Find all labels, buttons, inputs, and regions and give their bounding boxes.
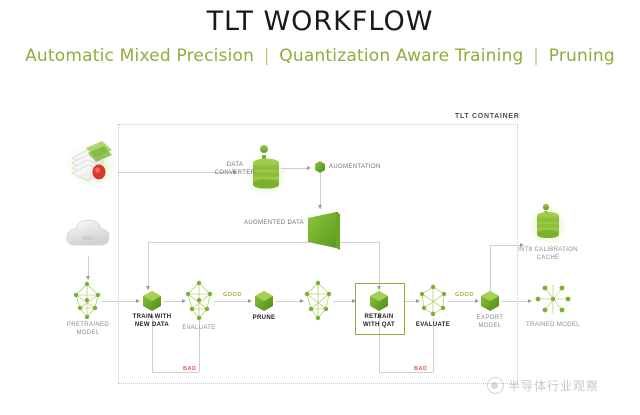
edge-augmentation-to-augdata	[320, 173, 321, 209]
bad-flag-2: BAD	[414, 366, 427, 372]
cube-icon-export	[481, 291, 499, 311]
edge-evaluate1-to-prune	[214, 301, 250, 302]
data-converter-label: DATA CONVERTER	[211, 162, 259, 177]
arrow-export-to-trained	[528, 299, 532, 303]
data-panel-icon	[308, 212, 340, 250]
image-stack-icon	[66, 141, 118, 188]
edge-export-to-cache-h	[490, 245, 522, 246]
edge-export-to-cache-v	[490, 245, 491, 291]
edge-evaluate2-to-export	[448, 301, 477, 302]
edge-augdata-left-bus	[148, 242, 310, 243]
edge-pretrained-to-train	[102, 301, 138, 302]
train-with-new-data-label: TRAIN WITH NEW DATA	[122, 314, 182, 329]
neural-net-sparse-icon-trained	[536, 285, 571, 313]
export-model-label: EXPORT MODEL	[468, 315, 512, 330]
arrow-train-to-evaluate1	[182, 299, 186, 303]
watermark-text: 半导体行业观察	[508, 377, 599, 394]
neural-net-icon-pretrained	[74, 282, 100, 319]
arrow-to-augmentation	[307, 166, 311, 170]
watermark: 半导体行业观察	[487, 377, 599, 394]
edge-evaluate2-bad-h	[379, 372, 433, 373]
evaluate-2-label: EVALUATE	[410, 322, 456, 330]
arrow-pretrained-to-train	[136, 299, 140, 303]
cloud-icon: NGC	[67, 220, 109, 245]
evaluate-1-label: EVALUATE	[174, 325, 224, 333]
arrow-evaluate2-to-export	[475, 299, 479, 303]
arrow-evaluate1-to-prune	[248, 299, 252, 303]
svg-text:NGC: NGC	[82, 236, 94, 242]
circle-logo-icon	[487, 377, 504, 394]
edge-converter-to-augmentation	[281, 168, 309, 169]
augmented-data-label: AUGMENTED DATA	[232, 220, 304, 228]
good-flag-2: GOOD	[455, 292, 474, 298]
neural-net-icon-pruned	[305, 281, 331, 320]
neural-net-icon-evaluate-2	[420, 285, 446, 316]
prune-label: PRUNE	[242, 315, 286, 323]
database-icon-int8-cache	[528, 204, 568, 246]
cube-icon-prune	[255, 291, 273, 311]
edge-evaluate1-bad-h	[152, 372, 199, 373]
arrow-to-augdata	[318, 205, 322, 209]
workflow-diagram: TLT WORKFLOW Automatic Mixed Precision |…	[0, 0, 640, 415]
good-flag-1: GOOD	[223, 292, 242, 298]
retrain-with-qat-label: RETRAIN WITH QAT	[355, 314, 403, 329]
edge-export-to-trained	[502, 301, 530, 302]
arrow-retrain-to-evaluate2	[416, 299, 420, 303]
bad-flag-1: BAD	[183, 366, 196, 372]
edge-augdata-to-train	[148, 242, 149, 290]
edge-train-to-evaluate1	[164, 301, 184, 302]
int8-calibration-cache-label: INT8 CALIBRATION CACHE	[512, 247, 584, 262]
trained-model-label: TRAINED MODEL	[520, 322, 586, 330]
edge-prune-to-pruned	[276, 301, 302, 302]
edge-augdata-right-bus	[340, 242, 379, 243]
arrow-cloud-to-pretrained	[86, 276, 90, 280]
arrow-augdata-to-train	[146, 286, 150, 290]
cube-icon-train	[143, 291, 161, 311]
neural-net-icon-evaluate-1	[186, 281, 212, 320]
pretrained-model-label: PRETRAINED MODEL	[58, 322, 118, 337]
arrow-prune-to-pruned	[300, 299, 304, 303]
augmentation-label: AUGMENTATION	[329, 164, 399, 172]
hex-node-icon-augmentation	[315, 161, 325, 173]
